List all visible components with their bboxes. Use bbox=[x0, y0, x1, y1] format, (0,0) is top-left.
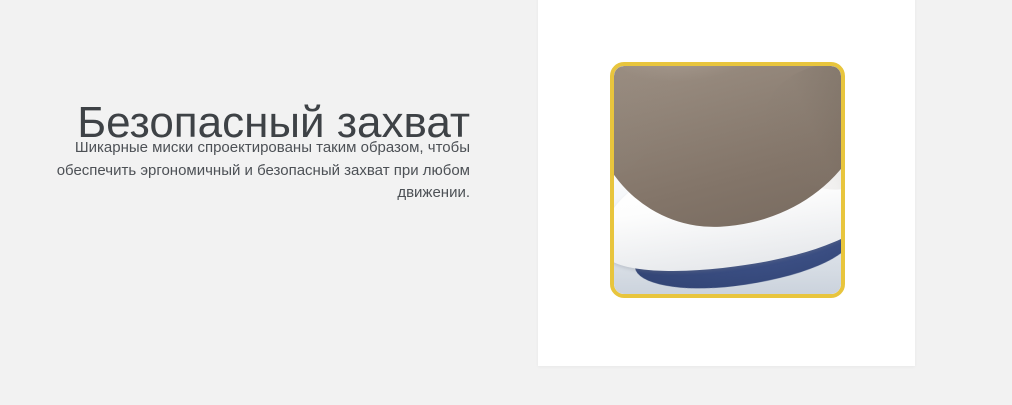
feature-banner: Безопасный захват Шикарные миски спроект… bbox=[0, 0, 1012, 405]
bowl-body-right-fold-shade bbox=[763, 66, 841, 193]
feature-description: Шикарные миски спроектированы таким обра… bbox=[0, 137, 470, 205]
product-image-card bbox=[538, 0, 915, 366]
bowl-body-left-edge-shade bbox=[614, 66, 673, 182]
feature-text-column: Безопасный захват Шикарные миски спроект… bbox=[0, 0, 500, 405]
product-photo bbox=[614, 66, 841, 294]
product-photo-frame bbox=[610, 62, 845, 298]
